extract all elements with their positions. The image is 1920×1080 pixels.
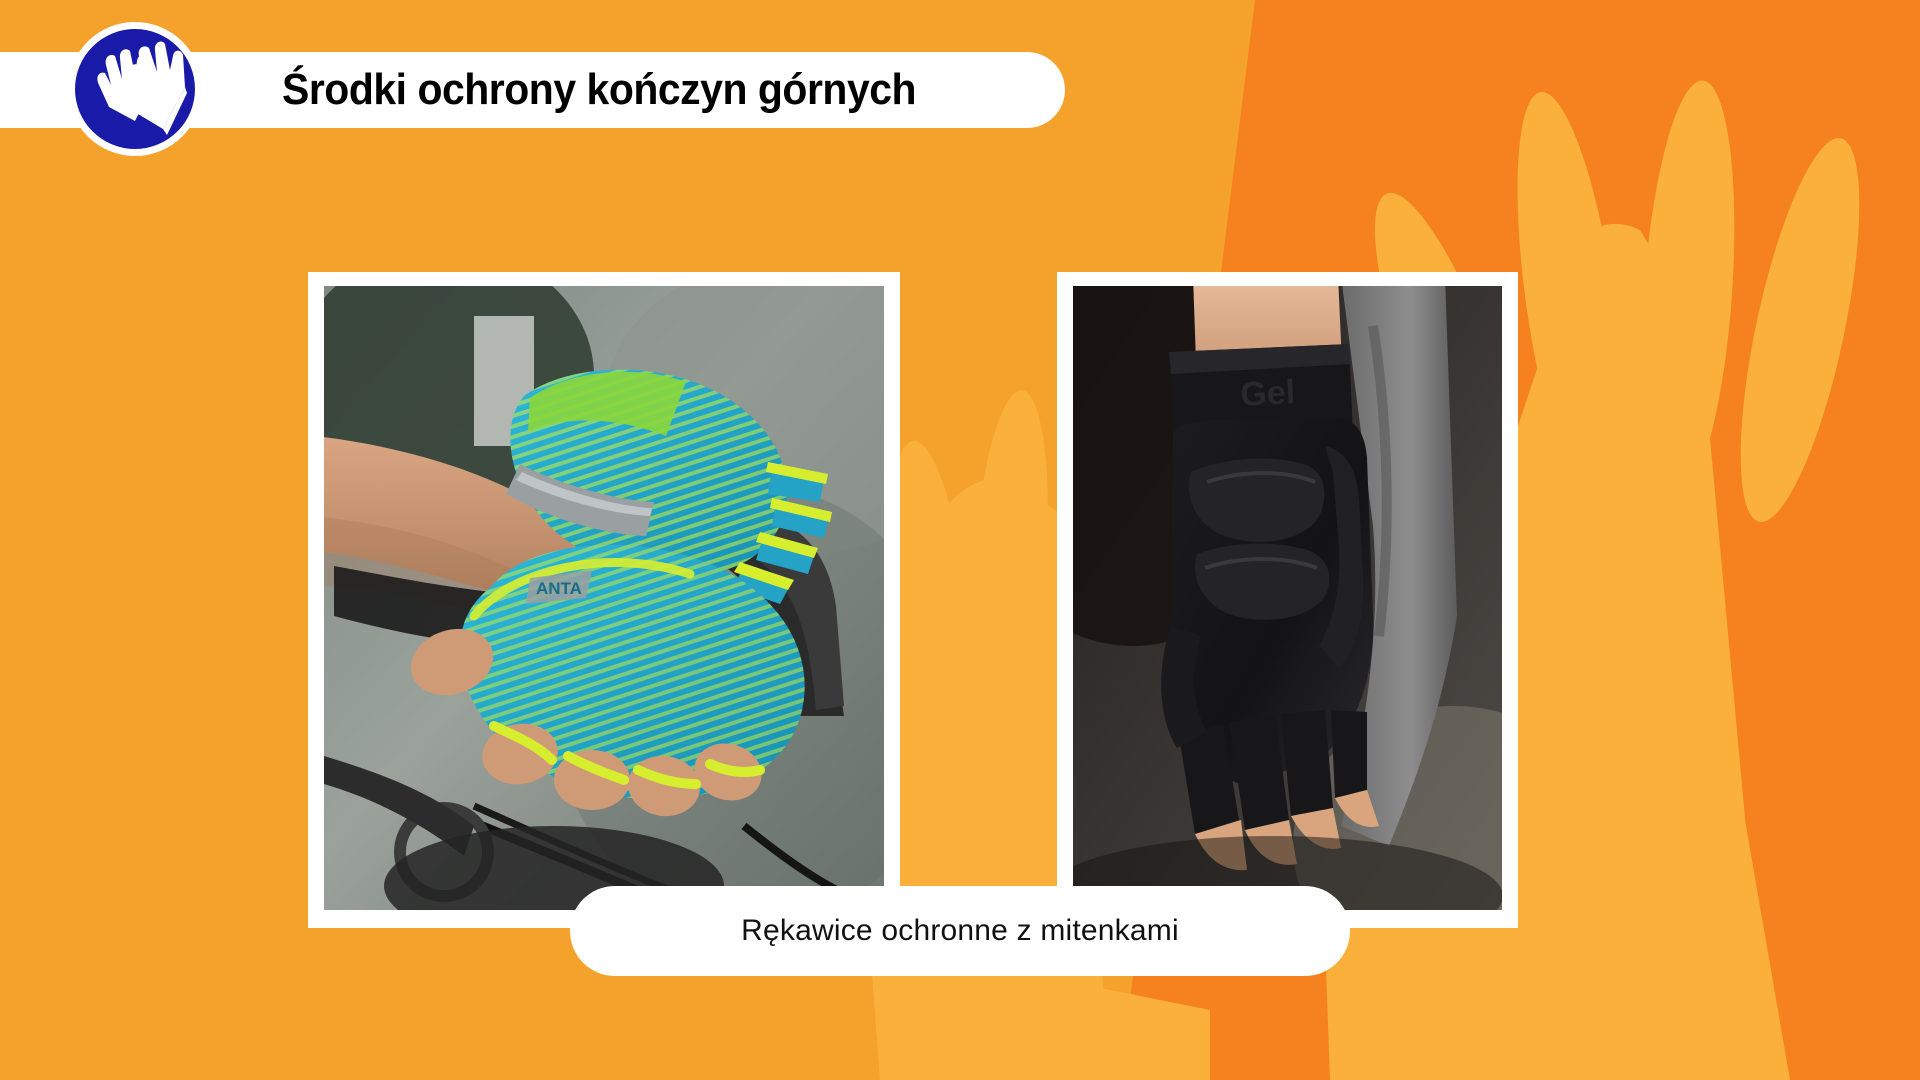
cycling-gloves-illustration: ANTA (324, 286, 884, 910)
protective-gloves-mandatory-sign-icon (68, 22, 202, 156)
caption-text: Rękawice ochronne z mitenkami (741, 914, 1179, 948)
black-fingerless-gym-glove-photo: Gel (1073, 286, 1502, 910)
photo-frame-cycling-gloves[interactable]: ANTA (308, 272, 900, 928)
photo-frame-black-glove[interactable]: Gel (1057, 272, 1518, 928)
black-glove-illustration: Gel (1073, 286, 1502, 910)
cyclist-wearing-fingerless-cycling-gloves-photo: ANTA (324, 286, 884, 910)
caption-pill: Rękawice ochronne z mitenkami (570, 886, 1350, 976)
svg-text:ANTA: ANTA (536, 579, 582, 598)
gloves-glyph (75, 29, 195, 149)
sign-blue-disc (75, 29, 195, 149)
svg-text:Gel: Gel (1239, 373, 1296, 414)
page-title: Środki ochrony kończyn górnych (282, 52, 916, 128)
